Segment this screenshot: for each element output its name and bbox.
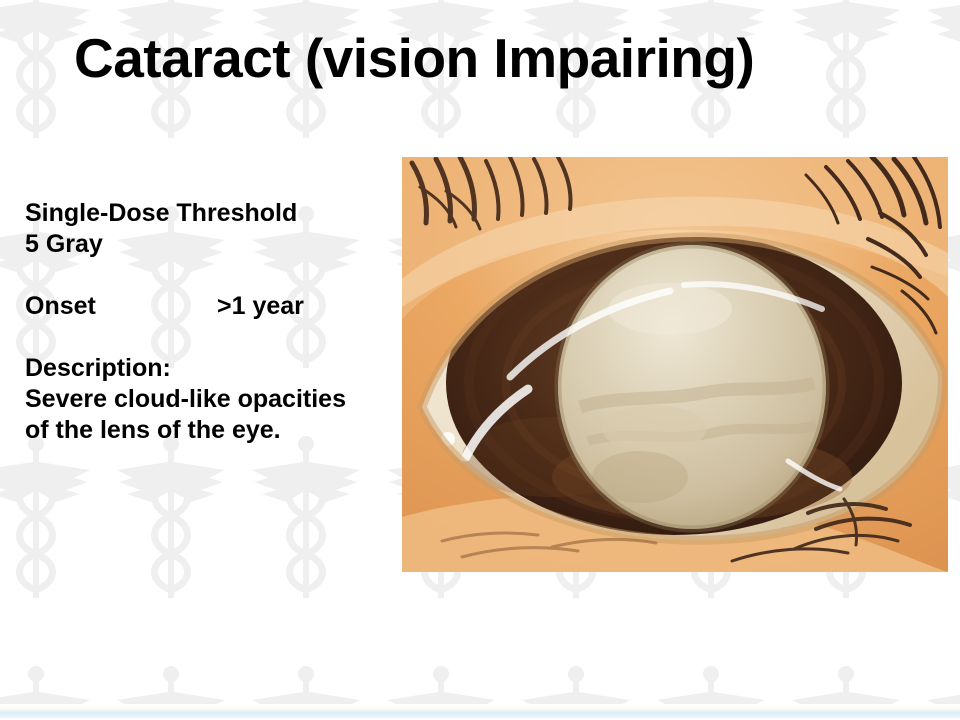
description-line-2: of the lens of the eye. <box>25 415 385 446</box>
onset-label: Onset <box>25 291 217 322</box>
caduceus-watermark-icon <box>246 420 366 600</box>
description-line-1: Severe cloud-like opacities <box>25 384 385 415</box>
page-title: Cataract (vision Impairing) <box>74 28 754 89</box>
threshold-value: 5 Gray <box>25 229 385 260</box>
eye-photo-illustration <box>402 157 948 572</box>
presentation-slide: Cataract (vision Impairing) Single-Dose … <box>0 0 960 720</box>
bottom-accent-band <box>0 704 960 720</box>
description-label: Description: <box>25 353 385 384</box>
onset-value: >1 year <box>217 291 304 322</box>
threshold-label: Single-Dose Threshold <box>25 198 385 229</box>
cataract-eye-photograph <box>402 157 948 572</box>
caduceus-watermark-icon <box>0 420 96 600</box>
caduceus-watermark-icon <box>786 0 906 140</box>
text-spacer-1 <box>25 260 385 291</box>
slide-body-text: Single-Dose Threshold 5 Gray Onset >1 ye… <box>25 198 385 446</box>
text-spacer-2 <box>25 322 385 353</box>
caduceus-watermark-icon <box>921 0 960 140</box>
onset-row: Onset >1 year <box>25 291 385 322</box>
caduceus-watermark-icon <box>111 420 231 600</box>
